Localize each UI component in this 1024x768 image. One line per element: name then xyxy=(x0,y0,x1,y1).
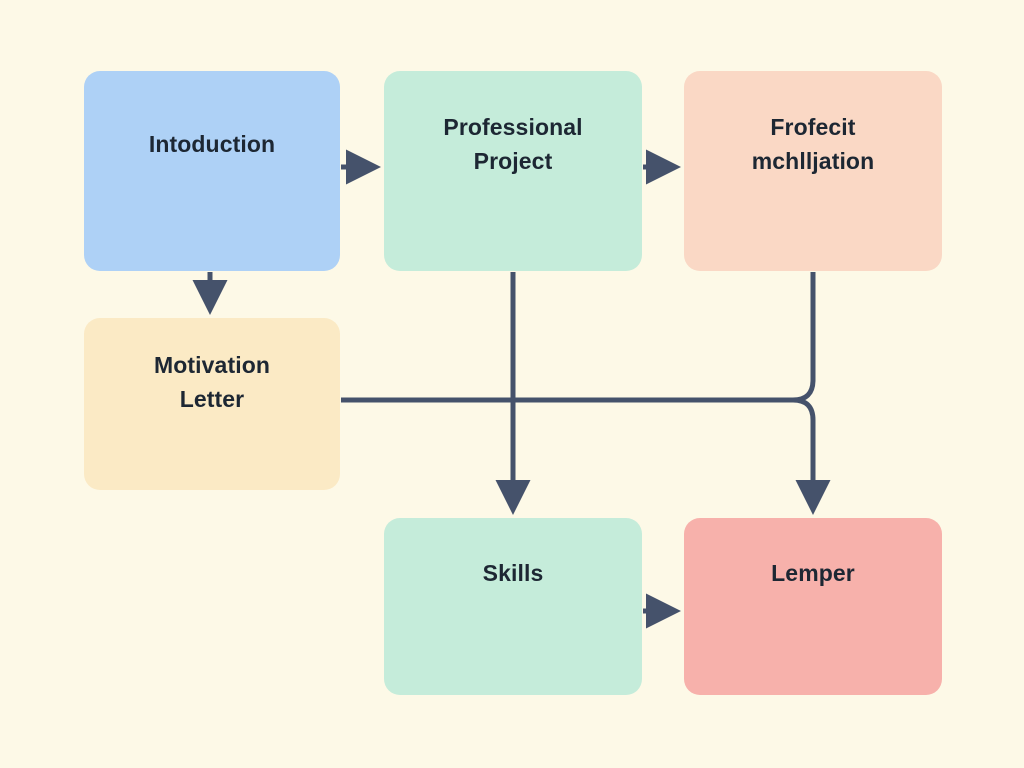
node-skills[interactable]: Skills xyxy=(384,518,642,695)
node-frofecit-label: Frofecit mchlljation xyxy=(752,110,875,178)
flowchart-canvas: Intoduction Professional Project Frofeci… xyxy=(0,0,1024,768)
node-frofecit[interactable]: Frofecit mchlljation xyxy=(684,71,942,271)
edge-motivation-lemper xyxy=(341,400,813,508)
node-motivation-letter-label: Motivation Letter xyxy=(154,348,270,416)
node-lemper-label: Lemper xyxy=(771,556,855,590)
edge-frofecit-lemper xyxy=(793,272,813,400)
node-skills-label: Skills xyxy=(483,556,544,590)
node-introduction-label: Intoduction xyxy=(149,127,275,161)
node-professional-project-label: Professional Project xyxy=(443,110,582,178)
node-professional-project[interactable]: Professional Project xyxy=(384,71,642,271)
node-lemper[interactable]: Lemper xyxy=(684,518,942,695)
node-introduction[interactable]: Intoduction xyxy=(84,71,340,271)
node-motivation-letter[interactable]: Motivation Letter xyxy=(84,318,340,490)
